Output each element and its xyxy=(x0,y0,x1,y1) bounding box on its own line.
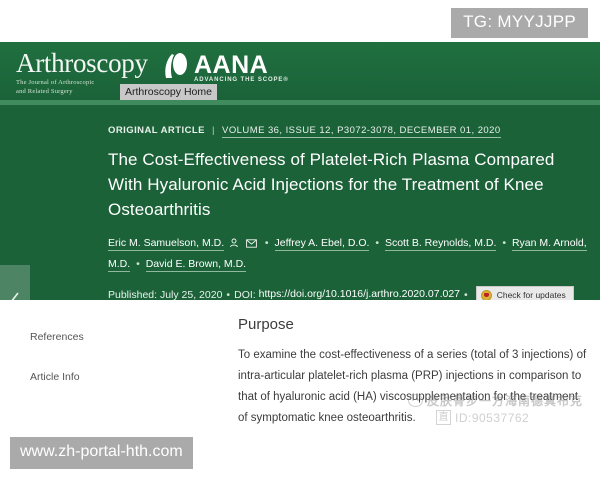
tg-watermark-badge: TG: MYYJJPP xyxy=(451,8,588,38)
article-sidebar-nav: References Article Info xyxy=(30,330,200,410)
aana-emblem-icon xyxy=(160,50,190,84)
url-watermark-bar: www.zh-portal-hth.com xyxy=(10,437,193,469)
aana-wordmark: AANA xyxy=(194,51,268,79)
author-bullet-2: • xyxy=(372,237,382,249)
sidebar-item-references[interactable]: References xyxy=(30,330,200,344)
author-list: Eric M. Samuelson, M.D. • Jeffrey A. Ebe… xyxy=(108,234,588,274)
author-affiliation-icon[interactable] xyxy=(229,236,239,255)
article-meta-line: ORIGINAL ARTICLE | VOLUME 36, ISSUE 12, … xyxy=(108,125,588,136)
author-bullet-3: • xyxy=(499,237,509,249)
sidebar-item-article-info[interactable]: Article Info xyxy=(30,370,200,384)
arthroscopy-home-tooltip: Arthroscopy Home xyxy=(120,84,217,100)
crossmark-icon xyxy=(481,290,492,301)
section-title-purpose: Purpose xyxy=(238,314,588,336)
section-body-purpose: To examine the cost-effectiveness of a s… xyxy=(238,345,588,429)
author-3[interactable]: Scott B. Reynolds, M.D. xyxy=(385,237,496,251)
author-5[interactable]: David E. Brown, M.D. xyxy=(146,258,246,272)
author-1[interactable]: Eric M. Samuelson, M.D. xyxy=(108,237,224,251)
article-hero: ORIGINAL ARTICLE | VOLUME 36, ISSUE 12, … xyxy=(0,105,600,300)
screenshot-page: TG: MYYJJPP Arthroscopy The Journal of A… xyxy=(0,0,600,480)
arthroscopy-wordmark: Arthroscopy xyxy=(16,48,148,78)
meta-separator: | xyxy=(208,125,219,136)
author-2[interactable]: Jeffrey A. Ebel, D.O. xyxy=(275,237,370,251)
top-strip: TG: MYYJJPP xyxy=(0,0,600,42)
article-content: Purpose To examine the cost-effectivenes… xyxy=(238,314,588,429)
author-bullet-4: • xyxy=(133,258,143,270)
article-title: The Cost-Effectiveness of Platelet-Rich … xyxy=(108,147,588,222)
article-volume-info[interactable]: VOLUME 36, ISSUE 12, P3072-3078, DECEMBE… xyxy=(222,125,501,138)
journal-masthead: Arthroscopy The Journal of Arthroscopic … xyxy=(0,42,600,100)
author-email-icon[interactable] xyxy=(246,236,257,255)
aana-tagline: ADVANCING THE SCOPE® xyxy=(194,77,289,83)
aana-logo[interactable]: AANA ADVANCING THE SCOPE® xyxy=(160,50,289,84)
article-type-label: ORIGINAL ARTICLE xyxy=(108,125,205,136)
author-bullet-1: • xyxy=(262,237,272,249)
